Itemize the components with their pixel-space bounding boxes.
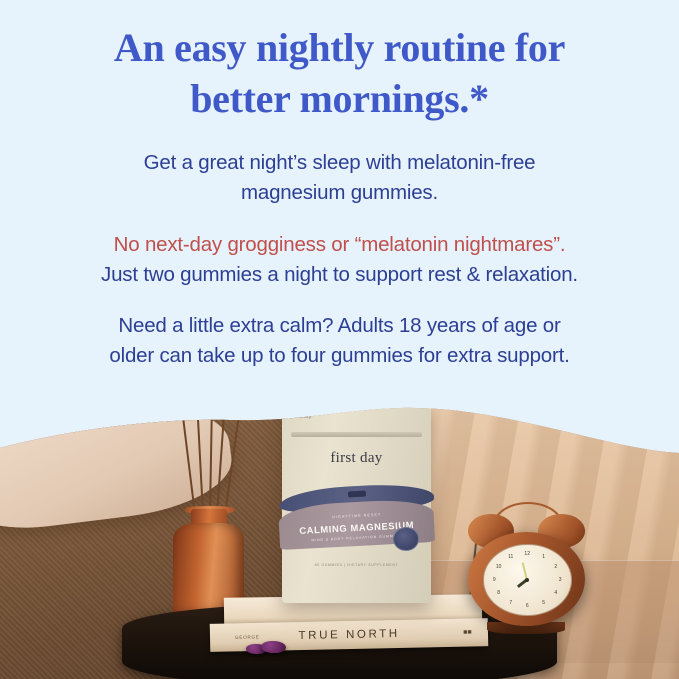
headline-line-1: An easy nightly routine for xyxy=(40,22,640,73)
clock-numeral: 2 xyxy=(554,564,557,570)
product-net-weight: 60 GUMMIES | DIETARY SUPPLEMENT xyxy=(282,563,431,567)
paragraph-benefit: Get a great night’s sleep with melatonin… xyxy=(50,148,630,207)
paragraph-benefit-line-1: Get a great night’s sleep with melatonin… xyxy=(50,148,630,178)
product-pouch: first day first day NIGHTTIME RESET CALM… xyxy=(282,404,431,602)
pouch-top-mark: first day xyxy=(294,414,312,419)
copy-block: An easy nightly routine for better morni… xyxy=(0,0,679,371)
paragraph-benefit-line-2: magnesium gummies. xyxy=(50,178,630,208)
page-title: An easy nightly routine for better morni… xyxy=(40,22,640,124)
diffuser-reeds xyxy=(190,407,231,515)
quality-seal-icon xyxy=(393,527,419,551)
paragraph-extra-calm: Need a little extra calm? Adults 18 year… xyxy=(50,311,630,370)
product-marketing-image: An easy nightly routine for better morni… xyxy=(0,0,679,679)
label-tab xyxy=(347,490,365,497)
clock-numeral: 5 xyxy=(542,600,545,606)
clock-face: 121234567891011 xyxy=(483,544,572,615)
alarm-clock: 121234567891011 xyxy=(465,504,587,634)
pouch-zipper xyxy=(291,432,422,436)
paragraph-dosage-line-2: Just two gummies a night to support rest… xyxy=(50,260,630,290)
clock-numeral: 8 xyxy=(497,590,500,596)
brand-name: first day xyxy=(282,450,431,467)
lifestyle-photo: GEORGE TRUE NORTH ■■ first day first day… xyxy=(0,396,679,679)
clock-numeral: 12 xyxy=(524,551,530,557)
clock-numeral: 1 xyxy=(542,554,545,560)
headline-line-2: better mornings.* xyxy=(40,73,640,124)
paragraph-dosage: No next-day grogginess or “melatonin nig… xyxy=(50,230,630,289)
clock-center-pin xyxy=(525,578,529,582)
clock-numeral: 10 xyxy=(496,564,502,570)
paragraph-dosage-line-1: No next-day grogginess or “melatonin nig… xyxy=(50,230,630,260)
clock-case: 121234567891011 xyxy=(468,532,585,626)
paragraph-extra-calm-line-1: Need a little extra calm? Adults 18 year… xyxy=(50,311,630,341)
paragraph-extra-calm-line-2: older can take up to four gummies for ex… xyxy=(50,341,630,371)
clock-numeral: 3 xyxy=(559,577,562,583)
gummy xyxy=(261,641,285,653)
scene: GEORGE TRUE NORTH ■■ first day first day… xyxy=(0,396,679,679)
clock-numeral: 4 xyxy=(554,590,557,596)
clock-numeral: 9 xyxy=(493,577,496,583)
clock-numeral: 7 xyxy=(509,600,512,606)
book-title: TRUE NORTH xyxy=(210,626,489,644)
clock-numeral: 6 xyxy=(526,603,529,609)
clock-numeral: 11 xyxy=(508,554,513,560)
body-copy: Get a great night’s sleep with melatonin… xyxy=(0,148,679,370)
